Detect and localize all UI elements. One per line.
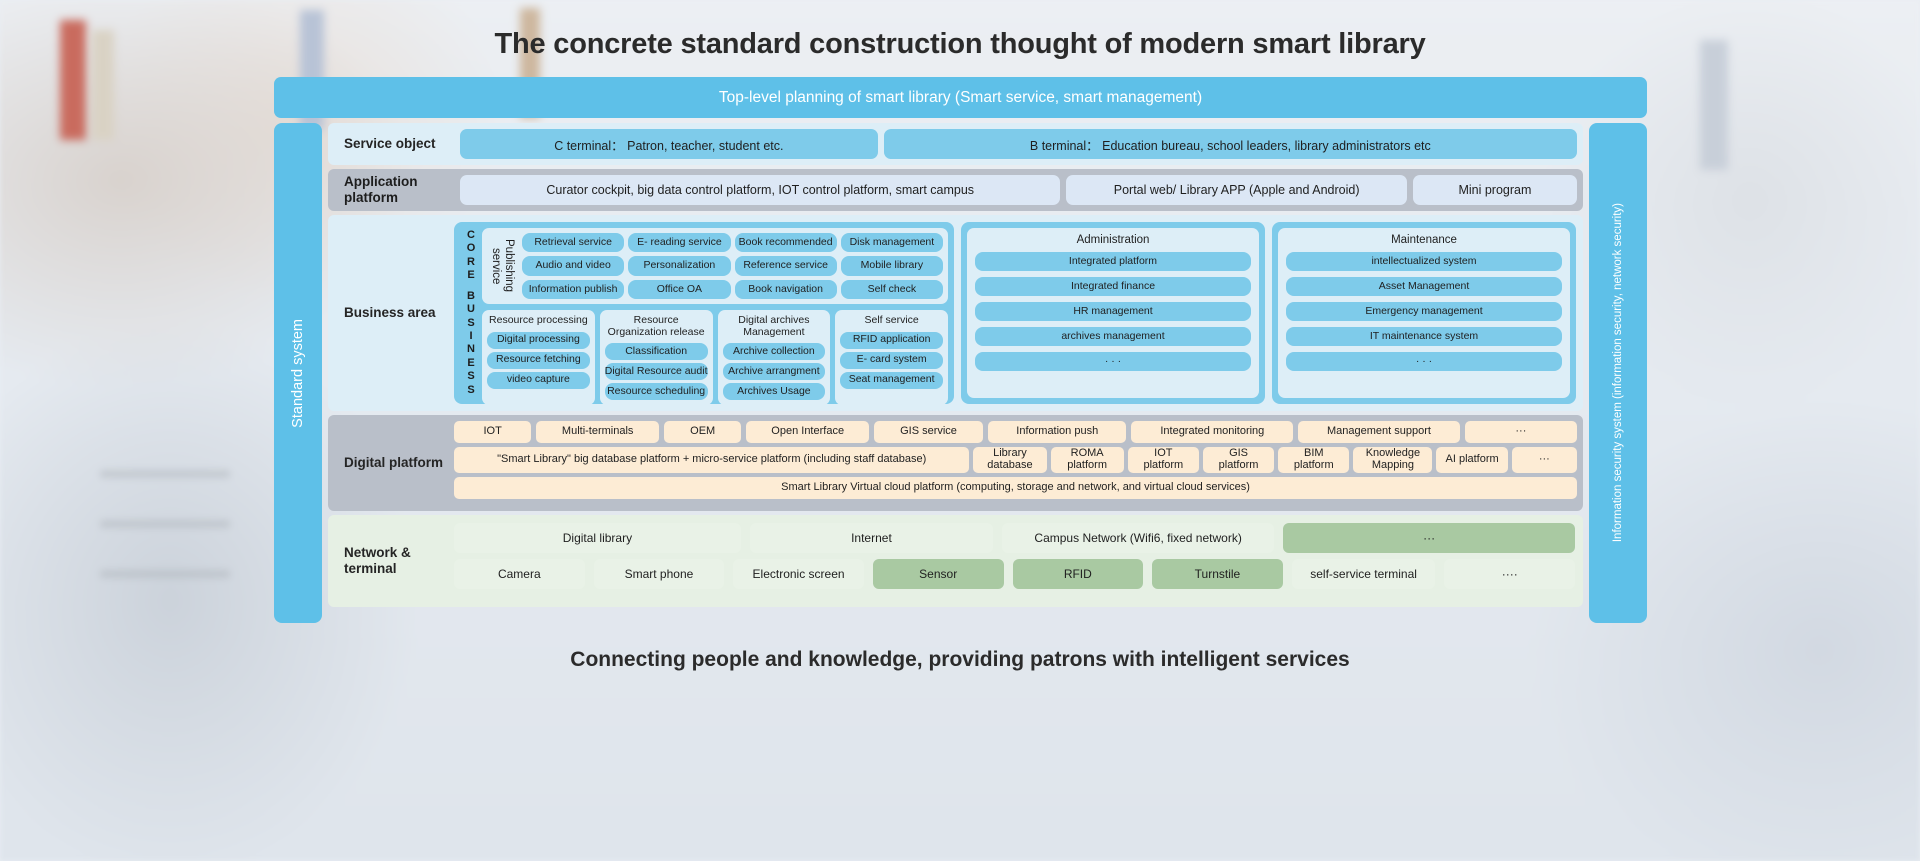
maintenance-inner: Maintenance intellectualized system Asse… bbox=[1278, 228, 1570, 398]
dig-pill-oem[interactable]: OEM bbox=[664, 421, 741, 443]
maint-pill-intellectualized-system[interactable]: intellectualized system bbox=[1286, 252, 1562, 271]
dig-pill-smart-library-big-database[interactable]: "Smart Library" big database platform + … bbox=[454, 447, 969, 473]
core-business-block: C O R E B U S I N E S S bbox=[454, 222, 954, 404]
standard-system-rail: Standard system bbox=[274, 123, 322, 623]
group-resource-processing: Resource processing Digital processing R… bbox=[482, 310, 595, 405]
layer-label-network-terminal: Network & terminal bbox=[328, 515, 454, 607]
layer-network-terminal: Network & terminal Digital library Inter… bbox=[328, 515, 1583, 607]
dig-pill-gis-service[interactable]: GIS service bbox=[874, 421, 983, 443]
information-security-rail: Information security system (information… bbox=[1589, 123, 1647, 623]
dig-pill-more[interactable]: ··· bbox=[1465, 421, 1577, 443]
core-letter: S bbox=[467, 384, 474, 397]
admin-pill-archives-management[interactable]: archives management bbox=[975, 327, 1251, 346]
net-pill-digital-library[interactable]: Digital library bbox=[454, 523, 741, 553]
dig-pill-more-2[interactable]: ··· bbox=[1512, 447, 1577, 473]
digital-platform-row-2: "Smart Library" big database platform + … bbox=[454, 447, 1577, 473]
app-platform-mini-program[interactable]: Mini program bbox=[1413, 175, 1577, 205]
core-letter: U bbox=[467, 303, 475, 316]
digital-platform-row-1: IOT Multi-terminals OEM Open Interface G… bbox=[454, 421, 1577, 443]
group-pill-digital-processing[interactable]: Digital processing bbox=[487, 332, 590, 349]
service-object-b-terminal[interactable]: B terminal： Education bureau, school lea… bbox=[884, 129, 1577, 159]
core-letter: C bbox=[467, 229, 475, 242]
publishing-service-block: Publishing service Retrieval service E- … bbox=[482, 228, 948, 304]
dig-pill-virtual-cloud-platform[interactable]: Smart Library Virtual cloud platform (co… bbox=[454, 477, 1577, 499]
net-pill-more[interactable]: ··· bbox=[1283, 523, 1575, 553]
layer-business-area: Business area C O R E B U S I bbox=[328, 215, 1583, 411]
service-pill-reference-service[interactable]: Reference service bbox=[735, 256, 837, 275]
group-self-service: Self service RFID application E- card sy… bbox=[835, 310, 948, 405]
dig-pill-integrated-monitoring[interactable]: Integrated monitoring bbox=[1131, 421, 1293, 443]
business-groups-row: Resource processing Digital processing R… bbox=[482, 310, 948, 405]
service-pill-retrieval-service[interactable]: Retrieval service bbox=[522, 233, 624, 252]
net-pill-electronic-screen[interactable]: Electronic screen bbox=[733, 559, 864, 589]
service-pill-personalization[interactable]: Personalization bbox=[628, 256, 730, 275]
group-pill-archives-usage[interactable]: Archives Usage bbox=[723, 383, 826, 400]
maintenance-title: Maintenance bbox=[1391, 234, 1457, 246]
core-business-vertical-word: C O R E B U S I N E S S bbox=[460, 228, 482, 398]
group-pill-video-capture[interactable]: video capture bbox=[487, 372, 590, 389]
group-title: Resource Organization release bbox=[605, 314, 708, 340]
core-letter: S bbox=[467, 317, 474, 330]
network-terminal-row-1: Digital library Internet Campus Network … bbox=[454, 523, 1575, 553]
layer-digital-platform: Digital platform IOT Multi-terminals OEM… bbox=[328, 415, 1583, 511]
dig-pill-library-database[interactable]: Library database bbox=[973, 447, 1046, 473]
administration-inner: Administration Integrated platform Integ… bbox=[967, 228, 1259, 398]
layer-service-object: Service object C terminal： Patron, teach… bbox=[328, 123, 1583, 165]
core-letter: E bbox=[467, 357, 474, 370]
maint-pill-it-maintenance-system[interactable]: IT maintenance system bbox=[1286, 327, 1562, 346]
dig-pill-information-push[interactable]: Information push bbox=[988, 421, 1126, 443]
publishing-service-grid: Retrieval service E- reading service Boo… bbox=[522, 233, 943, 299]
application-platform-label-text: Application platform bbox=[344, 174, 454, 206]
service-pill-information-publish[interactable]: Information publish bbox=[522, 280, 624, 299]
dig-pill-open-interface[interactable]: Open Interface bbox=[746, 421, 869, 443]
net-pill-sensor[interactable]: Sensor bbox=[873, 559, 1004, 589]
group-pill-resource-scheduling[interactable]: Resource scheduling bbox=[605, 383, 708, 400]
group-pill-archive-collection[interactable]: Archive collection bbox=[723, 343, 826, 360]
application-platform-items: Curator cockpit, big data control platfo… bbox=[454, 169, 1583, 211]
layer-label-application-platform: Application platform bbox=[328, 169, 454, 211]
group-pill-classification[interactable]: Classification bbox=[605, 343, 708, 360]
top-level-planning-banner: Top-level planning of smart library (Sma… bbox=[274, 77, 1647, 118]
app-platform-portal-web[interactable]: Portal web/ Library APP (Apple and Andro… bbox=[1066, 175, 1406, 205]
layer-label-digital-platform: Digital platform bbox=[328, 415, 454, 511]
group-pill-rfid-application[interactable]: RFID application bbox=[840, 332, 943, 349]
business-area-label-text: Business area bbox=[344, 305, 436, 321]
net-pill-turnstile[interactable]: Turnstile bbox=[1152, 559, 1283, 589]
net-pill-internet[interactable]: Internet bbox=[750, 523, 993, 553]
dig-pill-management-support[interactable]: Management support bbox=[1298, 421, 1460, 443]
group-pill-digital-resource-audit[interactable]: Digital Resource audit bbox=[605, 363, 708, 380]
core-letter: B bbox=[467, 290, 475, 303]
network-terminal-label-text: Network & terminal bbox=[344, 545, 454, 577]
dig-pill-knowledge-mapping[interactable]: Knowledge Mapping bbox=[1353, 447, 1432, 473]
network-terminal-row-2: Camera Smart phone Electronic screen Sen… bbox=[454, 559, 1575, 589]
digital-platform-body: IOT Multi-terminals OEM Open Interface G… bbox=[454, 415, 1583, 511]
service-pill-e-reading-service[interactable]: E- reading service bbox=[628, 233, 730, 252]
service-pill-mobile-library[interactable]: Mobile library bbox=[841, 256, 943, 275]
dig-pill-ai-platform[interactable]: AI platform bbox=[1436, 447, 1507, 473]
net-pill-camera[interactable]: Camera bbox=[454, 559, 585, 589]
core-business-inner: Publishing service Retrieval service E- … bbox=[482, 228, 948, 398]
dig-pill-roma-platform[interactable]: ROMA platform bbox=[1051, 447, 1124, 473]
standard-system-label: Standard system bbox=[290, 319, 306, 428]
administration-block: Administration Integrated platform Integ… bbox=[961, 222, 1265, 404]
core-letter: I bbox=[469, 330, 472, 343]
service-pill-self-check[interactable]: Self check bbox=[841, 280, 943, 299]
group-title: Self service bbox=[864, 314, 918, 329]
service-object-c-terminal[interactable]: C terminal： Patron, teacher, student etc… bbox=[460, 129, 878, 159]
core-letter: R bbox=[467, 256, 475, 269]
dig-pill-iot-platform[interactable]: IOT platform bbox=[1128, 447, 1199, 473]
net-pill-smart-phone[interactable]: Smart phone bbox=[594, 559, 725, 589]
core-letter: E bbox=[467, 269, 474, 282]
publishing-service-label: Publishing service bbox=[487, 233, 517, 299]
architecture-frame: Standard system Information security sys… bbox=[274, 123, 1647, 623]
admin-pill-integrated-finance[interactable]: Integrated finance bbox=[975, 277, 1251, 296]
service-object-items: C terminal： Patron, teacher, student etc… bbox=[454, 123, 1583, 165]
core-letter: N bbox=[467, 343, 475, 356]
dig-pill-gis-platform[interactable]: GIS platform bbox=[1203, 447, 1274, 473]
service-pill-office-oa[interactable]: Office OA bbox=[628, 280, 730, 299]
service-pill-disk-management[interactable]: Disk management bbox=[841, 233, 943, 252]
service-pill-book-recommended[interactable]: Book recommended bbox=[735, 233, 837, 252]
dig-pill-bim-platform[interactable]: BIM platform bbox=[1278, 447, 1349, 473]
net-pill-campus-network[interactable]: Campus Network (Wifi6, fixed network) bbox=[1002, 523, 1274, 553]
net-pill-more-2[interactable]: ···· bbox=[1444, 559, 1575, 589]
core-letter: S bbox=[467, 370, 474, 383]
footer-tagline: Connecting people and knowledge, providi… bbox=[0, 648, 1920, 672]
business-area-body: C O R E B U S I N E S S bbox=[454, 215, 1583, 411]
layer-label-business-area: Business area bbox=[328, 215, 454, 411]
administration-title: Administration bbox=[1077, 234, 1150, 246]
information-security-label: Information security system (information… bbox=[1611, 203, 1625, 542]
layer-label-service-object: Service object bbox=[328, 123, 454, 165]
service-pill-audio-and-video[interactable]: Audio and video bbox=[522, 256, 624, 275]
net-pill-rfid[interactable]: RFID bbox=[1013, 559, 1144, 589]
group-title: Resource processing bbox=[489, 314, 588, 329]
group-resource-organization-release: Resource Organization release Classifica… bbox=[600, 310, 713, 405]
admin-pill-integrated-platform[interactable]: Integrated platform bbox=[975, 252, 1251, 271]
group-pill-archive-arrangment[interactable]: Archive arrangment bbox=[723, 363, 826, 380]
digital-platform-row-3: Smart Library Virtual cloud platform (co… bbox=[454, 477, 1577, 499]
publishing-service-label-text: Publishing service bbox=[489, 233, 515, 299]
maint-pill-asset-management[interactable]: Asset Management bbox=[1286, 277, 1562, 296]
group-pill-e-card-system[interactable]: E- card system bbox=[840, 352, 943, 369]
page-title: The concrete standard construction thoug… bbox=[0, 28, 1920, 61]
layers-column: Service object C terminal： Patron, teach… bbox=[328, 123, 1583, 607]
core-letter: O bbox=[467, 242, 476, 255]
group-pill-seat-management[interactable]: Seat management bbox=[840, 372, 943, 389]
maint-pill-emergency-management[interactable]: Emergency management bbox=[1286, 302, 1562, 321]
admin-pill-hr-management[interactable]: HR management bbox=[975, 302, 1251, 321]
group-digital-archives-management: Digital archives Management Archive coll… bbox=[718, 310, 831, 405]
service-pill-book-navigation[interactable]: Book navigation bbox=[735, 280, 837, 299]
digital-platform-label-text: Digital platform bbox=[344, 455, 443, 471]
group-pill-resource-fetching[interactable]: Resource fetching bbox=[487, 352, 590, 369]
diagram-canvas: The concrete standard construction thoug… bbox=[0, 0, 1920, 861]
network-terminal-body: Digital library Internet Campus Network … bbox=[454, 515, 1583, 607]
maint-pill-more[interactable]: · · · bbox=[1286, 352, 1562, 371]
app-platform-curator-cockpit[interactable]: Curator cockpit, big data control platfo… bbox=[460, 175, 1060, 205]
layer-application-platform: Application platform Curator cockpit, bi… bbox=[328, 169, 1583, 211]
net-pill-self-service-terminal[interactable]: self-service terminal bbox=[1292, 559, 1436, 589]
dig-pill-multi-terminals[interactable]: Multi-terminals bbox=[536, 421, 659, 443]
dig-pill-iot[interactable]: IOT bbox=[454, 421, 531, 443]
group-title: Digital archives Management bbox=[723, 314, 826, 340]
admin-pill-more[interactable]: · · · bbox=[975, 352, 1251, 371]
maintenance-block: Maintenance intellectualized system Asse… bbox=[1272, 222, 1576, 404]
